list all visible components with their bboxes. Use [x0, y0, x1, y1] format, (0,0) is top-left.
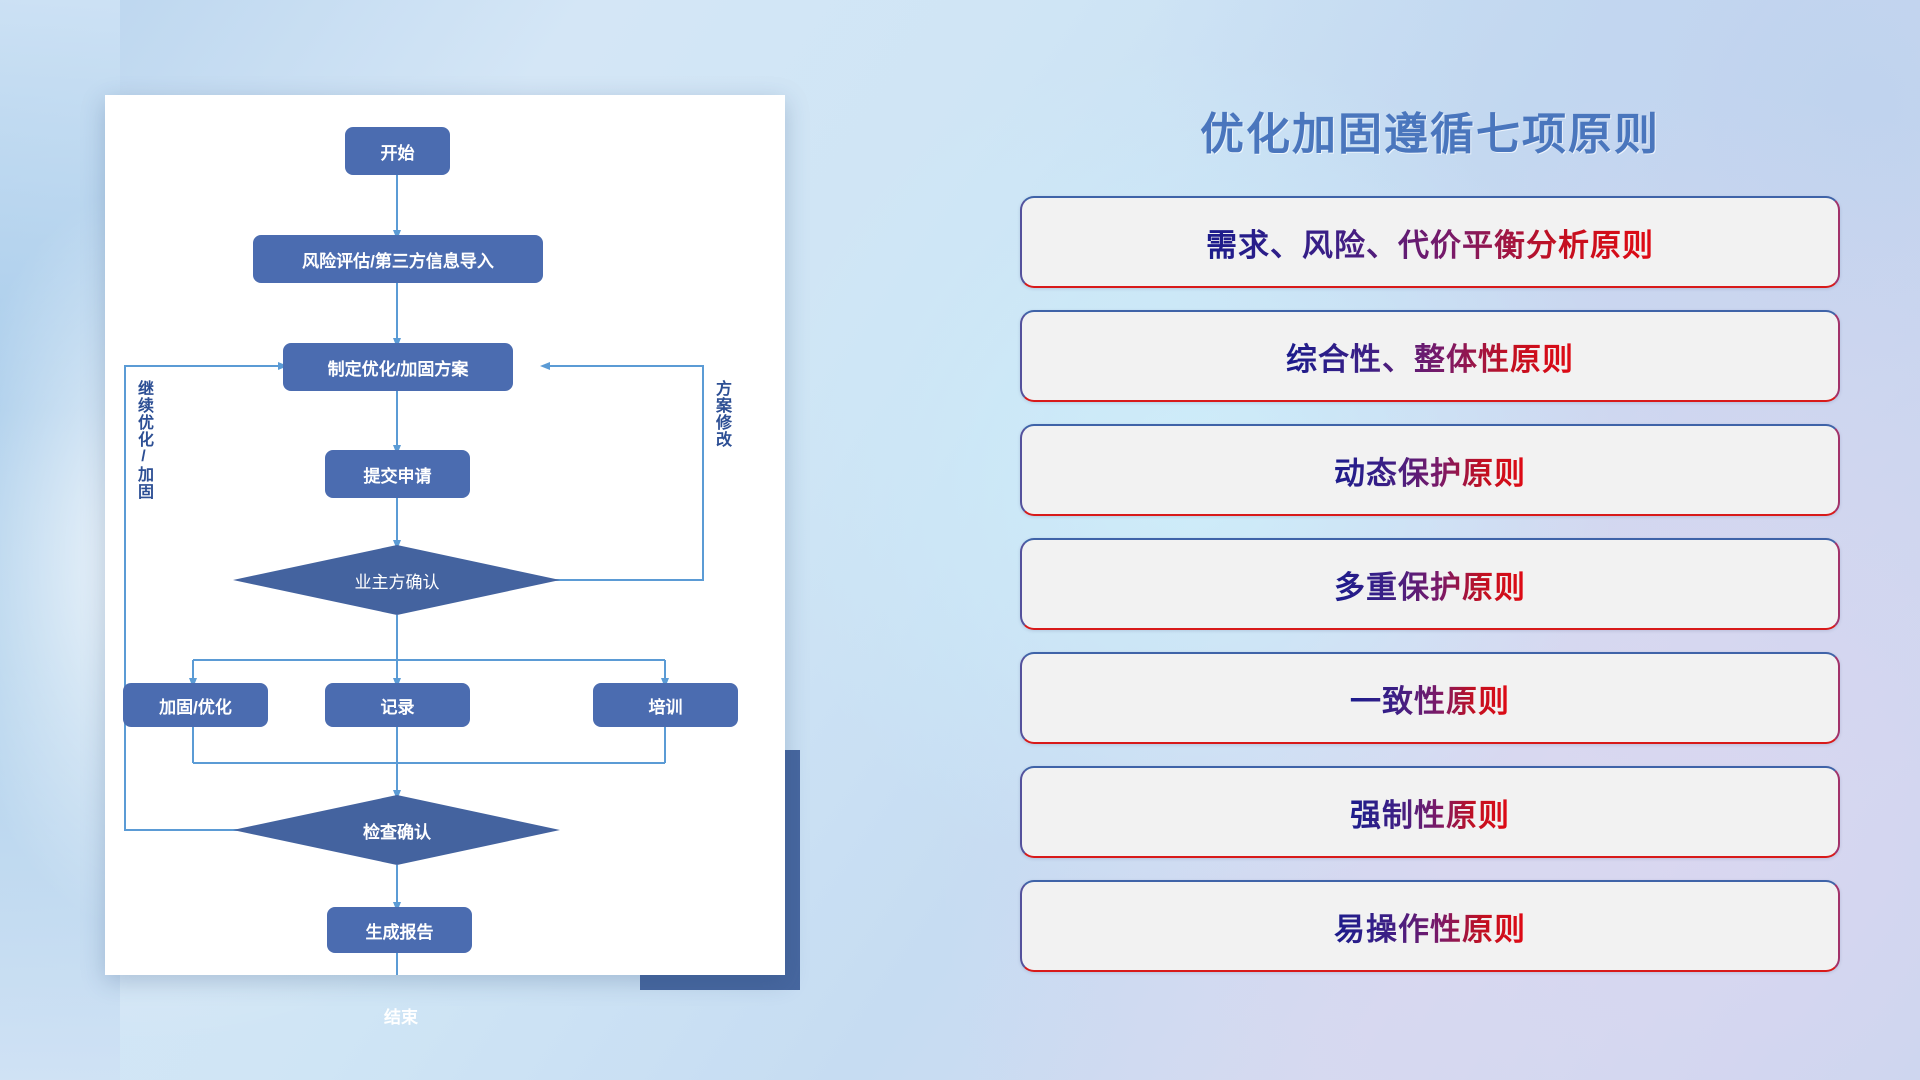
principle-item-3[interactable]: 动态保护原则 [1020, 424, 1840, 516]
principle-item-6[interactable]: 强制性原则 [1020, 766, 1840, 858]
node-report-label[interactable]: 生成报告 [327, 907, 472, 953]
panel-title: 优化加固遵循七项原则 [1020, 98, 1840, 162]
node-check-label[interactable]: 检查确认 [317, 807, 477, 853]
node-submit-label[interactable]: 提交申请 [325, 450, 470, 498]
principle-item-4[interactable]: 多重保护原则 [1020, 538, 1840, 630]
node-end-label[interactable]: 结束 [353, 993, 449, 1037]
principle-item-2[interactable]: 综合性、整体性原则 [1020, 310, 1840, 402]
principle-item-1[interactable]: 需求、风险、代价平衡分析原则 [1020, 196, 1840, 288]
principle-item-5[interactable]: 一致性原则 [1020, 652, 1840, 744]
edge-label-continue-optimize: 继续优化/加固 [135, 380, 151, 500]
edge-label-plan-revision: 方案修改 [713, 380, 729, 448]
node-record-label[interactable]: 记录 [325, 683, 470, 727]
principle-label-4: 多重保护原则 [1334, 562, 1526, 607]
principle-label-1: 需求、风险、代价平衡分析原则 [1206, 220, 1654, 265]
node-train-label[interactable]: 培训 [593, 683, 738, 727]
node-risk-label[interactable]: 风险评估/第三方信息导入 [253, 235, 543, 283]
node-plan-label[interactable]: 制定优化/加固方案 [283, 343, 513, 391]
principle-label-7: 易操作性原则 [1334, 904, 1526, 949]
principle-label-2: 综合性、整体性原则 [1286, 334, 1574, 379]
node-owner-label[interactable]: 业主方确认 [317, 557, 477, 603]
principles-panel: 优化加固遵循七项原则 需求、风险、代价平衡分析原则 综合性、整体性原则 动态保护… [1020, 80, 1840, 1010]
principle-label-6: 强制性原则 [1350, 790, 1510, 835]
principle-item-7[interactable]: 易操作性原则 [1020, 880, 1840, 972]
principle-label-5: 一致性原则 [1350, 676, 1510, 721]
principle-label-3: 动态保护原则 [1334, 448, 1526, 493]
node-reinforce-label[interactable]: 加固/优化 [123, 683, 268, 727]
node-start-label[interactable]: 开始 [345, 127, 450, 175]
flowchart-card: 开始 风险评估/第三方信息导入 制定优化/加固方案 提交申请 业主方确认 加固/… [105, 95, 785, 975]
